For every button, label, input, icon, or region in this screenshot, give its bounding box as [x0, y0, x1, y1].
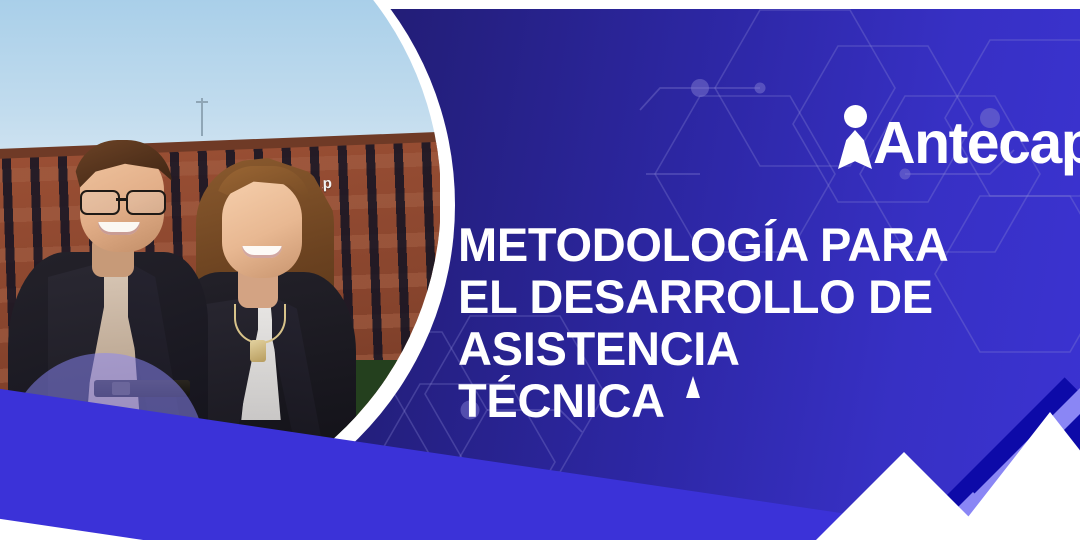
person-figure-icon — [838, 105, 872, 169]
title-line-1: METODOLOGÍA PARA — [458, 219, 1058, 271]
title-line-4: TÉCNICA — [458, 375, 1058, 427]
title-line-3: ASISTENCIA — [458, 323, 1058, 375]
antecap-logo-text: Antecap — [873, 118, 1080, 169]
antecap-logo[interactable]: Antecap — [838, 99, 1080, 169]
banner: ntecap — [0, 0, 1080, 540]
page-title: METODOLOGÍA PARA EL DESARROLLO DE ASISTE… — [458, 219, 1058, 427]
title-line-2: EL DESARROLLO DE — [458, 271, 1058, 323]
